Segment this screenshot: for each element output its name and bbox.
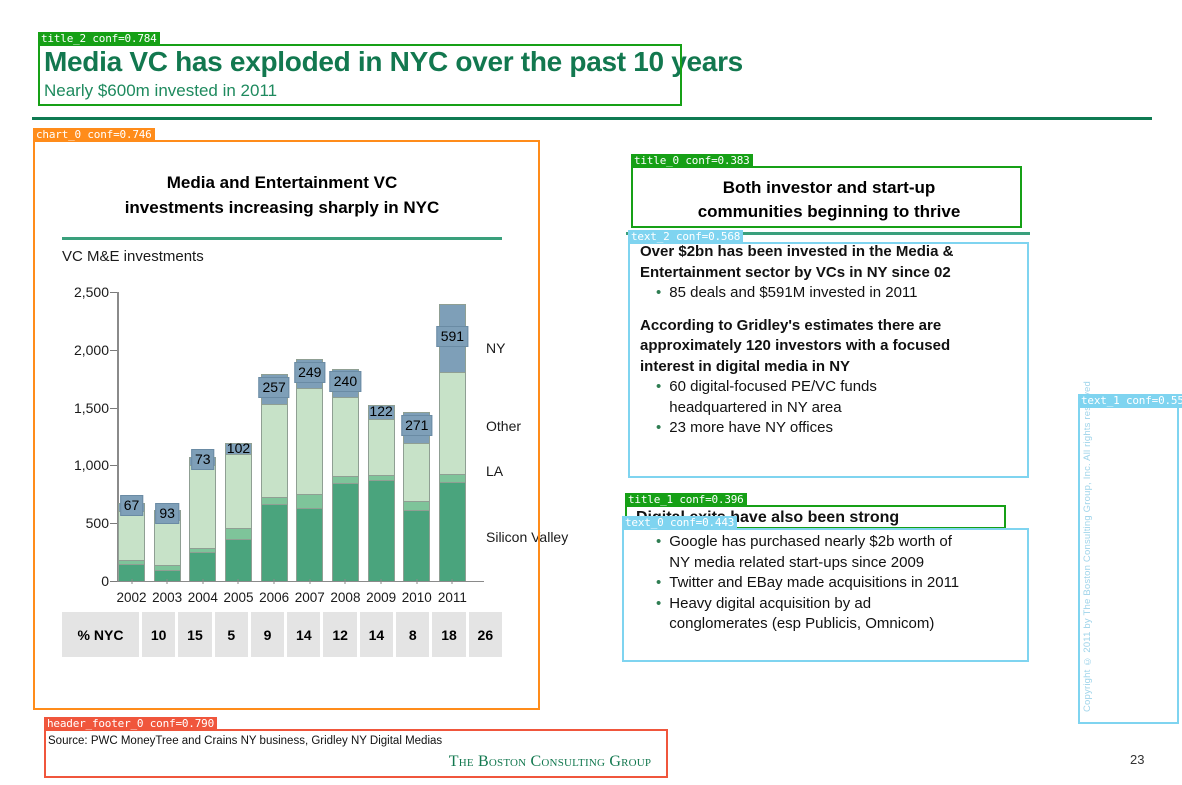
bar-column[interactable]: 2402008 — [332, 292, 359, 581]
y-axis-tick-mark — [110, 350, 117, 351]
block-b-bullet-1-line-1: Google has purchased nearly $2b worth of — [669, 533, 952, 550]
percent-nyc-value: 15 — [178, 612, 211, 657]
annotation-label: title_0 conf=0.383 — [631, 154, 753, 168]
annotation-label: title_2 conf=0.784 — [38, 32, 160, 46]
bar-column[interactable]: 932003 — [154, 292, 181, 581]
block-a-lead2-3: interest in digital media in NY — [640, 358, 850, 375]
slide-title: Media VC has exploded in NYC over the pa… — [44, 46, 664, 78]
bar-column[interactable]: 1022005 — [225, 292, 252, 581]
chart-title-divider — [62, 237, 502, 240]
bar-segment-sv — [225, 539, 252, 581]
percent-nyc-value: 9 — [251, 612, 284, 657]
block-a-bullet-3: 23 more have NY offices — [669, 418, 833, 439]
block-a-bullet-2: 60 digital-focused PE/VC funds headquart… — [669, 377, 877, 418]
bar-column[interactable]: 732004 — [189, 292, 216, 581]
bar-segment-sv — [439, 482, 466, 581]
y-axis-tick-mark — [110, 292, 117, 293]
x-axis-tick-label: 2011 — [438, 590, 467, 605]
block-b-bullet-3: Heavy digital acquisition by ad conglome… — [669, 594, 934, 635]
percent-nyc-value: 14 — [287, 612, 320, 657]
right-text-block-investor: Over $2bn has been invested in the Media… — [640, 242, 1022, 439]
right-title-digital-exits: Digital exits have also been strong — [636, 508, 1036, 529]
list-item: • 23 more have NY offices — [656, 418, 1022, 439]
bar-column[interactable]: 672002 — [118, 292, 145, 581]
annotation-label: header_footer_0 conf=0.790 — [44, 717, 217, 731]
bar-column[interactable]: 1222009 — [368, 292, 395, 581]
block-a-lead-1: Over $2bn has been invested in the Media… — [640, 243, 953, 260]
bullet-icon: • — [656, 377, 661, 418]
bar-segment-sv — [403, 510, 430, 581]
legend-label-ny: NY — [486, 340, 505, 356]
x-axis-tick-mark — [274, 579, 275, 584]
x-axis-tick-label: 2004 — [188, 590, 218, 605]
bar-segment-other — [439, 372, 466, 474]
x-axis-tick-mark — [202, 579, 203, 584]
bar-segment-la — [403, 501, 430, 511]
bar-segment-sv — [189, 552, 216, 581]
bullet-icon: • — [656, 532, 661, 573]
spacer — [640, 304, 1022, 316]
x-axis-tick-mark — [345, 579, 346, 584]
source-note: Source: PWC MoneyTree and Crains NY busi… — [48, 735, 442, 747]
bar-segment-other — [118, 511, 145, 561]
block-b-bullet-3-line-2: conglomerates (esp Publicis, Omnicom) — [669, 615, 934, 632]
bar-column[interactable]: 5912011 — [439, 292, 466, 581]
x-axis-tick-mark — [131, 579, 132, 584]
chart-title-line-1: Media and Entertainment VC — [62, 170, 502, 195]
bar-segment-other — [261, 404, 288, 496]
chart-title-line-2: investments increasing sharply in NYC — [62, 195, 502, 220]
block-b-bullet-3-line-1: Heavy digital acquisition by ad — [669, 595, 871, 612]
header-divider — [32, 117, 1152, 120]
annotation-label: text_1 conf=0.559 — [1078, 394, 1182, 408]
bar-value-label: 93 — [155, 503, 179, 524]
block-a-lead-2: Entertainment sector by VCs in NY since … — [640, 264, 951, 281]
annotation-label: title_1 conf=0.396 — [625, 493, 747, 507]
block-b-bullet-2: Twitter and EBay made acquisitions in 20… — [669, 573, 959, 594]
right-title-investor-line-1: Both investor and start-up — [636, 176, 1022, 200]
x-axis-tick-label: 2003 — [152, 590, 182, 605]
block-a-lead2-2: approximately 120 investors with a focus… — [640, 337, 950, 354]
x-axis-tick-mark — [238, 579, 239, 584]
bar-segment-la — [439, 474, 466, 482]
right-title-divider-1 — [626, 232, 1030, 235]
y-axis-tick-label: 2,500 — [74, 284, 109, 300]
bar-segment-other — [189, 465, 216, 548]
x-axis-tick-label: 2002 — [116, 590, 146, 605]
percent-nyc-value: 8 — [396, 612, 429, 657]
list-item: • Heavy digital acquisition by ad conglo… — [656, 594, 1022, 635]
x-axis-tick-label: 2008 — [330, 590, 360, 605]
bar-segment-other — [225, 454, 252, 527]
page-number: 23 — [1130, 752, 1144, 767]
list-item: • 60 digital-focused PE/VC funds headqua… — [656, 377, 1022, 418]
percent-nyc-value: 5 — [215, 612, 248, 657]
list-item: • Twitter and EBay made acquisitions in … — [656, 573, 1022, 594]
x-axis-tick-label: 2006 — [259, 590, 289, 605]
bar-column[interactable]: 2492007 — [296, 292, 323, 581]
x-axis-tick-label: 2010 — [402, 590, 432, 605]
bar-segment-other — [154, 520, 181, 565]
slide-subtitle: Nearly $600m invested in 2011 — [44, 81, 664, 101]
bar-segment-other — [296, 388, 323, 494]
right-text-block-exits: • Google has purchased nearly $2b worth … — [640, 532, 1022, 635]
y-axis-tick-label: 500 — [86, 515, 109, 531]
x-axis-tick-mark — [416, 579, 417, 584]
block-b-bullet-1-line-2: NY media related start-ups since 2009 — [669, 554, 924, 571]
bullet-icon: • — [656, 283, 661, 304]
x-axis-tick-label: 2009 — [366, 590, 396, 605]
bar-value-label: 271 — [401, 415, 432, 436]
y-axis-tick-mark — [110, 523, 117, 524]
bar-value-label: 102 — [224, 439, 253, 458]
bar-value-label: 257 — [258, 377, 289, 398]
percent-nyc-value: 26 — [469, 612, 502, 657]
y-axis-tick-mark — [110, 581, 117, 582]
bar-segment-other — [403, 443, 430, 501]
y-axis-tick-label: 1,500 — [74, 400, 109, 416]
list-item: • 85 deals and $591M invested in 2011 — [656, 283, 1022, 304]
list-item: • Google has purchased nearly $2b worth … — [656, 532, 1022, 573]
bar-value-label: 73 — [191, 449, 215, 470]
bar-column[interactable]: 2572006 — [261, 292, 288, 581]
x-axis-tick-label: 2005 — [223, 590, 253, 605]
block-a-bullet-1: 85 deals and $591M invested in 2011 — [669, 283, 917, 304]
percent-nyc-table: % NYC10155914121481826 — [62, 612, 502, 657]
bar-column[interactable]: 2712010 — [403, 292, 430, 581]
bar-series-group: 6720029320037320041022005257200624920072… — [118, 292, 466, 581]
x-axis-tick-mark — [167, 579, 168, 584]
bcg-logo-wordmark: The Boston Consulting Group — [430, 753, 670, 771]
percent-nyc-value: 10 — [142, 612, 175, 657]
bar-segment-other — [332, 397, 359, 477]
bullet-icon: • — [656, 573, 661, 594]
x-axis-tick-mark — [309, 579, 310, 584]
chart-title: Media and Entertainment VC investments i… — [62, 170, 502, 220]
bar-segment-la — [332, 476, 359, 483]
legend-label-silicon-valley: Silicon Valley — [486, 529, 568, 545]
right-title-investor-line-2: communities beginning to thrive — [636, 200, 1022, 224]
right-title-investor: Both investor and start-up communities b… — [636, 176, 1022, 224]
y-axis-tick-mark — [110, 465, 117, 466]
bar-value-label: 67 — [120, 495, 144, 516]
block-a-lead2-1: According to Gridley's estimates there a… — [640, 317, 941, 334]
y-axis-tick-label: 1,000 — [74, 457, 109, 473]
bar-value-label: 122 — [366, 402, 395, 421]
legend-label-la: LA — [486, 463, 503, 479]
y-axis-tick-mark — [110, 408, 117, 409]
percent-nyc-value: 18 — [432, 612, 465, 657]
bullet-icon: • — [656, 594, 661, 635]
bar-segment-la — [296, 494, 323, 508]
block-a-bullet-2-line-2: headquartered in NY area — [669, 399, 841, 416]
y-axis-tick-label: 0 — [101, 573, 109, 589]
bar-value-label: 591 — [437, 326, 468, 347]
legend-label-other: Other — [486, 418, 521, 434]
block-b-bullet-1: Google has purchased nearly $2b worth of… — [669, 532, 952, 573]
bar-value-label: 249 — [294, 362, 325, 383]
x-axis-tick-label: 2007 — [295, 590, 325, 605]
bar-segment-la — [261, 497, 288, 505]
bar-segment-sv — [332, 483, 359, 581]
copyright-vertical-text: Copyright © 2011 by The Boston Consultin… — [1082, 412, 1096, 712]
bar-segment-sv — [296, 508, 323, 581]
chart-y-axis-title: VC M&E investments — [62, 248, 204, 265]
y-axis-tick-label: 2,000 — [74, 342, 109, 358]
block-a-bullet-2-line-1: 60 digital-focused PE/VC funds — [669, 378, 877, 395]
bar-segment-other — [368, 419, 395, 475]
bar-segment-sv — [261, 504, 288, 581]
percent-nyc-value: 14 — [360, 612, 393, 657]
x-axis-tick-mark — [381, 579, 382, 584]
bar-segment-la — [225, 528, 252, 540]
percent-nyc-header: % NYC — [62, 612, 139, 657]
chart-plot-area: 05001,0001,5002,0002,500 672002932003732… — [118, 292, 466, 581]
bullet-icon: • — [656, 418, 661, 439]
bar-segment-sv — [368, 480, 395, 581]
percent-nyc-value: 12 — [323, 612, 356, 657]
annotation-label: chart_0 conf=0.746 — [33, 128, 155, 142]
x-axis-tick-mark — [452, 579, 453, 584]
bar-value-label: 240 — [330, 371, 361, 392]
